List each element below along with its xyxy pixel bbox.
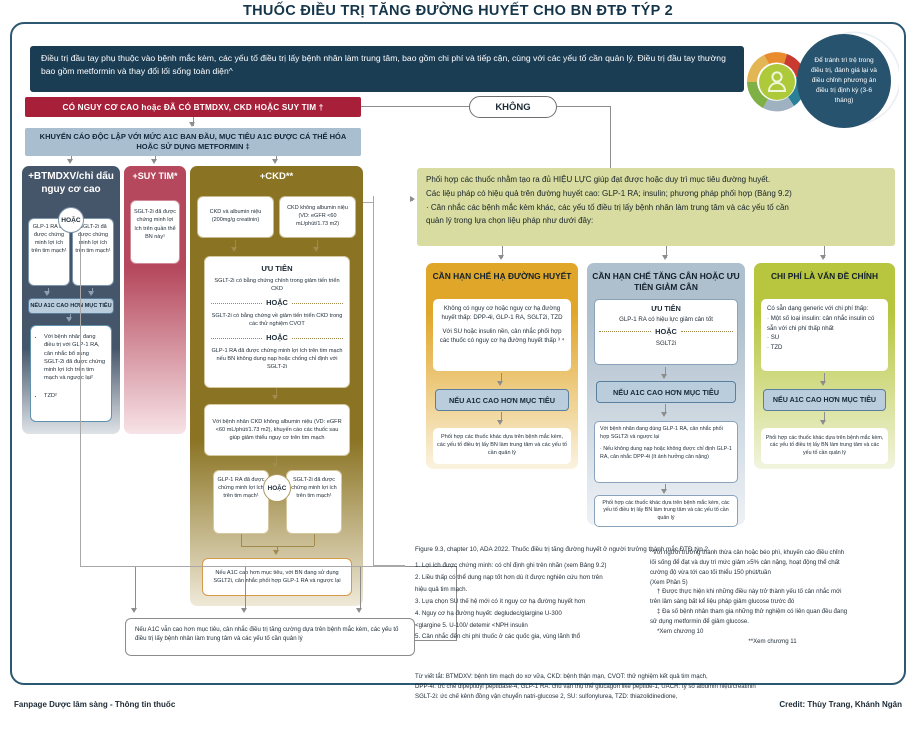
connector xyxy=(557,106,611,107)
cost-a1c-label: NẾU A1C CAO HƠN MỤC TIÊU xyxy=(763,389,886,411)
ckd-or-label: HOẶC xyxy=(266,298,288,309)
connector xyxy=(241,534,242,546)
efficacy-panel: Phối hợp các thuốc nhằm tạo ra đủ HIỆU L… xyxy=(417,168,895,246)
footer-right: Credit: Thùy Trang, Khánh Ngân xyxy=(779,700,902,709)
hypo-final-box: Phối hợp các thuốc khác dựa trên bệnh mắ… xyxy=(433,428,571,464)
ckd-glp1-box: GLP-1 RA đã được chứng minh lợi ích trên… xyxy=(213,470,269,534)
abbr-line: Từ viết tắt: BTMDXV: bệnh tim mạch do xơ… xyxy=(415,672,895,682)
ckd-no-albuminuria-box: CKD không albumin niệu (VD: eGFR <60 mL/… xyxy=(279,196,356,238)
weight-options-box: ƯU TIÊN GLP-1 RA có hiệu lực giảm cân tố… xyxy=(594,299,738,365)
connector xyxy=(412,200,413,201)
weight-priority-text: GLP-1 RA có hiệu lực giảm cân tốt xyxy=(599,315,733,324)
footnote-item: 5. Cân nhắc đến chi phí thuốc ở các quốc… xyxy=(415,631,643,643)
weight-a1c-label: NẾU A1C CAO HƠN MỤC TIÊU xyxy=(596,381,736,403)
connector xyxy=(363,202,373,203)
weight-or-divider: HOẶC xyxy=(599,326,733,337)
cost-box-line-2: · Một số loại insulin: cân nhắc insulin … xyxy=(767,314,882,334)
connector-arrow xyxy=(66,317,72,322)
connector-arrow xyxy=(272,395,278,400)
weight-note-1: Với bệnh nhân đang dùng GLP-1 RA, cân nh… xyxy=(600,426,732,441)
connector xyxy=(360,566,361,610)
footnote-item: trên lâm sàng bất kể liệu pháp giảm gluc… xyxy=(650,597,895,607)
ckd-or-badge: HOẶC xyxy=(263,474,291,502)
connector-arrow xyxy=(497,420,503,425)
footnote-item: 1. Lợi ích được chứng minh: có chỉ định … xyxy=(415,560,643,572)
footnote-item: 4. Nguy cơ hạ đường huyết: degludec/glar… xyxy=(415,608,643,620)
ckd-or-divider-1: HOẶC xyxy=(211,298,343,309)
column-hypoglycemia: CẦN HẠN CHẾ HẠ ĐƯỜNG HUYẾT Không có nguy… xyxy=(426,263,578,469)
footnotes-right: ^Với người trưởng thành thừa cân hoặc bé… xyxy=(650,548,895,647)
column-cost: CHI PHÍ LÀ VẤN ĐỀ CHÍNH Có sẵn dạng gene… xyxy=(754,263,895,469)
efficacy-line-4: quản lý trong lựa chọn liệu pháp như dướ… xyxy=(426,214,886,228)
column-weight: CẦN HẠN CHẾ TĂNG CÂN HOẶC ƯU TIÊN GIẢM C… xyxy=(587,263,745,525)
ckd-final-box: Nếu A1C cao hơn mục tiêu, với BN đang sử… xyxy=(202,558,352,596)
connector-arrow xyxy=(273,550,279,555)
ascvd-or-badge: HOẶC xyxy=(58,207,84,233)
cycle-note: Để tránh trì trệ trong điều trị, đánh gi… xyxy=(797,34,891,128)
column-ckd: +CKD** CKD và albumin niệu (200mg/g crea… xyxy=(190,166,363,606)
connector-arrow xyxy=(662,255,668,260)
connector xyxy=(80,236,81,566)
ckd-priority-box: ƯU TIÊN SGLT-2i có bằng chứng chính tron… xyxy=(204,256,350,388)
footnote-item: 2. Liều thấp có thể dung nạp tốt hơn dù … xyxy=(415,572,643,584)
column-heart-failure: +SUY TIM* SGLT-2i đã được chứng minh lợi… xyxy=(124,166,186,434)
connector-arrow xyxy=(67,159,73,164)
connector-arrow xyxy=(820,255,826,260)
ckd-albuminuria-box: CKD và albumin niệu (200mg/g creatinin) xyxy=(197,196,274,238)
footnote-item: **Xem chương 11 xyxy=(650,637,895,647)
footnote-item: cường độ vừa tới cao tối thiểu 150 phút/… xyxy=(650,568,895,578)
efficacy-line-2: Các liệu pháp có hiệu quả trên đường huy… xyxy=(426,187,886,201)
ascvd-note-item: TZD² xyxy=(44,392,106,400)
connector-arrow xyxy=(661,374,667,379)
connector-arrow xyxy=(661,412,667,417)
connector-arrow xyxy=(497,381,503,386)
connector xyxy=(80,566,410,567)
ckd-priority-2: SGLT-2i có bằng chứng về giảm tiến triển… xyxy=(211,312,343,328)
connector-arrow xyxy=(820,381,826,386)
connector-arrow xyxy=(272,463,278,468)
weight-alt-text: SGLT2i xyxy=(599,339,733,348)
efficacy-line-3: · Cân nhắc các bệnh mắc kèm khác, các yế… xyxy=(426,201,886,215)
abbreviations: Từ viết tắt: BTMDXV: bệnh tim mạch do xơ… xyxy=(415,672,895,702)
ascvd-a1c-label: NẾU A1C CAO HƠN MỤC TIÊU xyxy=(28,298,114,314)
footnote-item: ^Với người trưởng thành thừa cân hoặc bé… xyxy=(650,548,895,558)
page-title-text: THUỐC ĐIỀU TRỊ TĂNG ĐƯỜNG HUYẾT CHO BN Đ… xyxy=(231,3,685,19)
efficacy-line-1: Phối hợp các thuốc nhằm tạo ra đủ HIỆU L… xyxy=(426,173,886,187)
hypo-a1c-label: NẾU A1C CAO HƠN MỤC TIÊU xyxy=(435,389,569,411)
ckd-or-label: HOẶC xyxy=(266,333,288,344)
cost-title: CHI PHÍ LÀ VẤN ĐỀ CHÍNH xyxy=(754,263,895,286)
connector xyxy=(135,566,136,610)
hypo-title: CẦN HẠN CHẾ HẠ ĐƯỜNG HUYẾT xyxy=(426,263,578,286)
connector xyxy=(245,566,246,610)
weight-final-box: Phối hợp các thuốc khác dựa trên bệnh mắ… xyxy=(594,495,738,527)
footnote-item: <glargine 5. U-100/ detemir <NPH insulin xyxy=(415,620,643,632)
footnote-item: (Xem Phần 5) xyxy=(650,578,895,588)
bottom-summary-box: Nếu A1C vẫn cao hơn mục tiêu, cân nhắc đ… xyxy=(125,618,415,656)
intro-banner: Điều trị đầu tay phụ thuộc vào bệnh mắc … xyxy=(30,46,744,92)
abbr-line: DPP-4i: ức chế dipeptidyl peptidase-4, G… xyxy=(415,682,895,692)
connector xyxy=(373,196,374,566)
footnote-item: † Được thực hiện khi những điều này trở … xyxy=(650,587,895,597)
column-hf-title: +SUY TIM* xyxy=(124,166,186,184)
risk-banner: CÓ NGUY CƠ CAO hoặc ĐÃ CÓ BTMDXV, CKD HO… xyxy=(25,97,361,117)
weight-note-box: Với bệnh nhân đang dùng GLP-1 RA, cân nh… xyxy=(594,421,738,483)
weight-or-label: HOẶC xyxy=(655,326,677,337)
connector-arrow xyxy=(131,608,137,613)
ascvd-note-item: Với bệnh nhân đang điều trị với GLP-1 RA… xyxy=(44,333,106,383)
hypo-box-line-1: Không có nguy cơ hoặc nguy cơ hạ đường h… xyxy=(438,304,566,323)
connector-arrow xyxy=(356,608,362,613)
connector-arrow xyxy=(151,159,157,164)
connector-arrow xyxy=(498,255,504,260)
connector-arrow xyxy=(313,247,319,252)
weight-title: CẦN HẠN CHẾ TĂNG CÂN HOẶC ƯU TIÊN GIẢM C… xyxy=(587,263,745,297)
weight-priority-heading: ƯU TIÊN xyxy=(599,304,733,315)
ckd-priority-heading: ƯU TIÊN xyxy=(211,263,343,274)
footer-left: Fanpage Dược lâm sàng - Thông tin thuốc xyxy=(14,700,175,709)
connector-arrow xyxy=(189,122,195,127)
footnote-item: *Xem chương 10 xyxy=(650,627,895,637)
weight-note-2: · Nếu không dung nạp hoặc không được chỉ… xyxy=(600,446,732,461)
connector-arrow xyxy=(88,291,94,296)
ckd-advice-box: Với bệnh nhân CKD không albumin niệu (VD… xyxy=(204,404,350,456)
footnote-item: ‡ Đa số bệnh nhân tham gia những thử ngh… xyxy=(650,607,895,617)
footnote-item: sử dụng metformin để giảm glucose. xyxy=(650,617,895,627)
page-title: THUỐC ĐIỀU TRỊ TĂNG ĐƯỜNG HUYẾT CHO BN Đ… xyxy=(0,2,916,20)
hf-sglt2-box: SGLT-2i đã được chứng minh lợi ích trên … xyxy=(130,200,180,264)
no-branch-label: KHÔNG xyxy=(469,96,557,118)
cost-box-line-4: · TZD xyxy=(767,343,882,353)
ckd-priority-1: SGLT-2i có bằng chứng chính trong giảm t… xyxy=(211,277,343,293)
ckd-or-divider-2: HOẶC xyxy=(211,333,343,344)
ascvd-note-box: Với bệnh nhân đang điều trị với GLP-1 RA… xyxy=(30,325,112,422)
cost-box-line-1: Có sẵn dạng generic với chi phí thấp: xyxy=(767,304,882,314)
cost-options-box: Có sẵn dạng generic với chi phí thấp: · … xyxy=(761,299,888,371)
recommendation-bar: KHUYẾN CÁO ĐỘC LẬP VỚI MỨC A1C BAN ĐẦU, … xyxy=(25,128,361,156)
column-ckd-title: +CKD** xyxy=(190,166,363,185)
connector-arrow xyxy=(231,247,237,252)
connector-arrow xyxy=(661,489,667,494)
footnotes-left: 1. Lợi ích được chứng minh: có chỉ định … xyxy=(415,560,643,643)
hypo-options-box: Không có nguy cơ hoặc nguy cơ hạ đường h… xyxy=(433,299,571,371)
footnote-item: lối sống để đạt và duy trì mức giảm ≥5% … xyxy=(650,558,895,568)
connector xyxy=(314,534,315,546)
column-ascvd: +BTMDXV/chỉ dấu nguy cơ cao HOẶC GLP-1 R… xyxy=(22,166,120,434)
footnote-item: 3. Lựa chọn SU thế hệ mới có ít nguy cơ … xyxy=(415,596,643,608)
connector-arrow xyxy=(44,291,50,296)
footnote-item: hiệu quả tim mạch. xyxy=(415,584,643,596)
cost-final-box: Phối hợp các thuốc khác dựa trên bệnh mắ… xyxy=(761,428,888,464)
column-ascvd-title: +BTMDXV/chỉ dấu nguy cơ cao xyxy=(22,166,120,198)
ckd-sglt2-box: SGLT-2i đã được chứng minh lợi ích trên … xyxy=(286,470,342,534)
connector-arrow xyxy=(820,420,826,425)
connector-arrow xyxy=(272,159,278,164)
ckd-priority-3: GLP-1 RA đã được chứng minh lợi ích trên… xyxy=(211,347,343,371)
cost-box-line-3: · SU xyxy=(767,333,882,343)
connector xyxy=(361,106,469,107)
connector-arrow xyxy=(241,608,247,613)
hypo-box-line-2: Với SU hoặc insulin nền, cân nhắc phối h… xyxy=(438,327,566,346)
